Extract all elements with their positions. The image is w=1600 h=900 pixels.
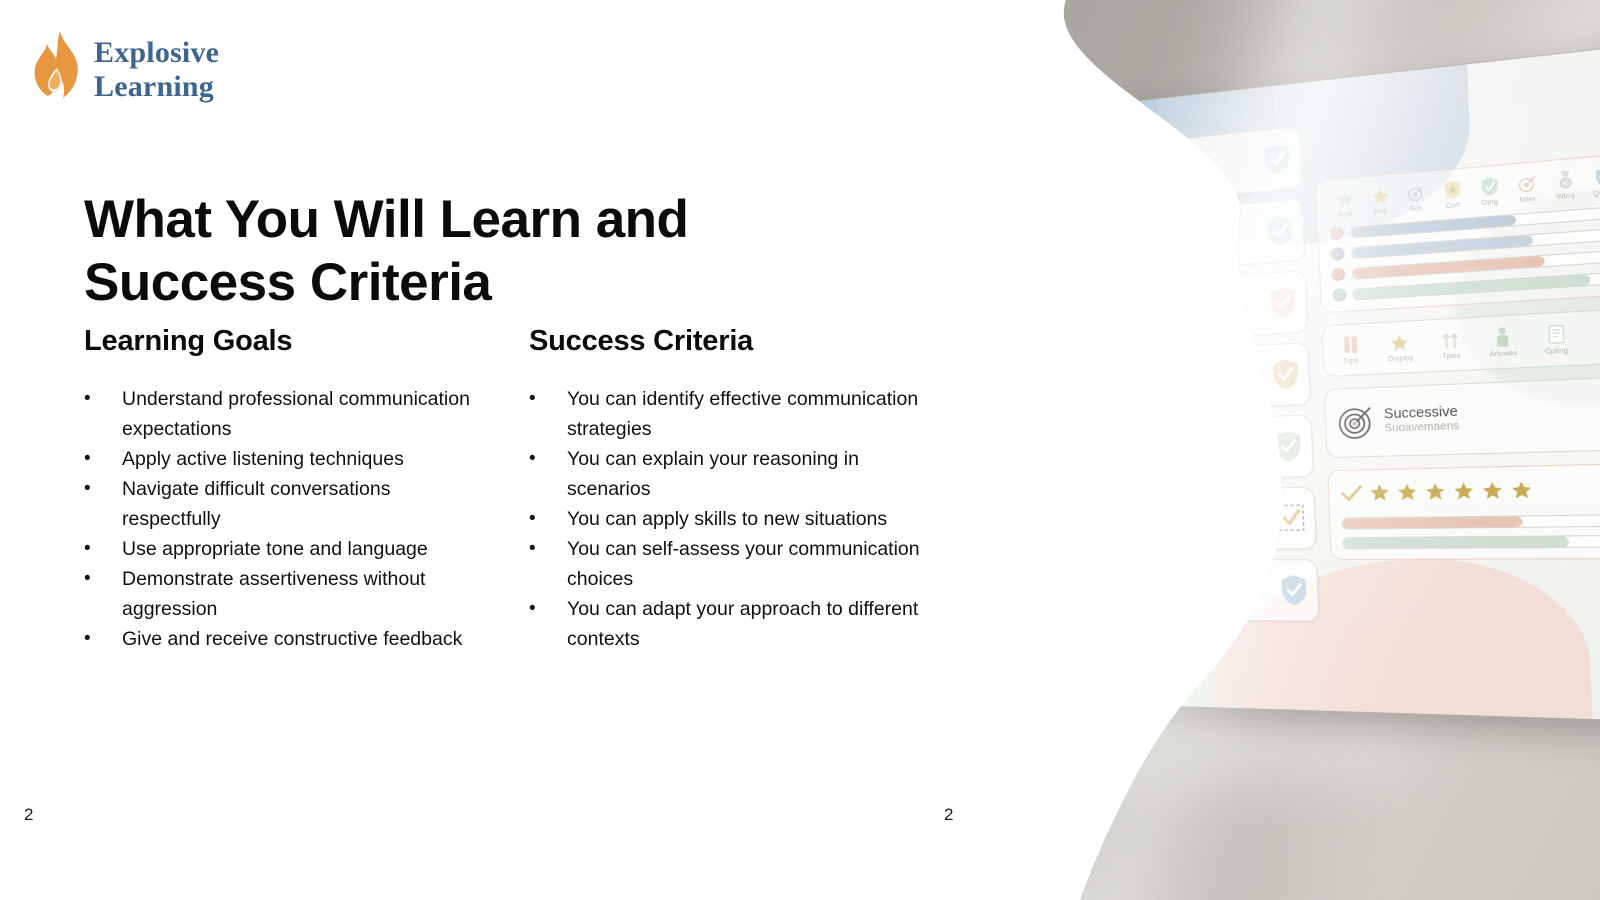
- progress-fill: [1352, 235, 1533, 258]
- list-item-text: Give and receive constructive feedback: [122, 624, 484, 654]
- shield-check-icon: [1271, 358, 1301, 391]
- slide-root: Explosive Learning What You Will Learn a…: [0, 0, 1600, 900]
- row-subtitle: Suten dg: [1096, 376, 1272, 397]
- star-icon: [1389, 332, 1411, 353]
- shield-check-icon: [1262, 142, 1292, 177]
- bullet-marker: •: [84, 384, 122, 414]
- star-icon: [1481, 480, 1505, 502]
- progress-fill: [1343, 537, 1568, 549]
- star-icon: [1396, 481, 1419, 502]
- badge-label: Otng: [1473, 198, 1507, 209]
- list-item-text: You can explain your reasoning in scenar…: [567, 444, 929, 504]
- list-item-text: Demonstrate assertiveness without aggres…: [122, 564, 484, 624]
- shield-check-icon: [1478, 176, 1499, 198]
- column-success-criteria: Success Criteria • You can identify effe…: [529, 325, 929, 654]
- row-subtitle: Succes motis: [1088, 161, 1263, 191]
- badge-label: Wlrnj: [1548, 191, 1583, 202]
- highlight-texts: Successive Suoavemaens: [1384, 405, 1460, 436]
- star-icon: [1452, 480, 1475, 502]
- gold-medal-icon: [1047, 162, 1080, 197]
- tool-cell: Cpting: [1538, 323, 1574, 357]
- tool-label: Tpies: [1435, 352, 1468, 361]
- row-subtitle: Soccesss pone: [1099, 447, 1275, 466]
- highlight-row-panel: Successive Suoavemaens: [1324, 376, 1600, 459]
- achievement-board: Successivg Succes motis: [980, 43, 1600, 721]
- board-side-edge: [980, 122, 1002, 704]
- star-icon: [1335, 189, 1355, 209]
- board-content: Successivg Succes motis: [980, 43, 1600, 721]
- list-item-text: You can identify effective communication…: [567, 384, 929, 444]
- checkbox[interactable]: [1027, 510, 1051, 533]
- row-subtitle: Saerngreolce: [1094, 304, 1269, 328]
- badge-cell: Cort: [1435, 178, 1469, 211]
- list-item: • You can self-assess your communication…: [529, 534, 929, 594]
- document-icon: [1546, 323, 1567, 346]
- board-checklist: Successivg Succes motis: [1004, 126, 1322, 684]
- star-icon: [1370, 186, 1390, 206]
- progress-dot: [1332, 288, 1346, 302]
- row-subtitle: Pustiiet: [1101, 519, 1277, 535]
- dashed-check-icon: [1276, 502, 1306, 535]
- tool-label: Tigst: [1335, 357, 1367, 366]
- gold-medal-icon: [1055, 367, 1088, 401]
- board-widgets: Rgst Jsob: [1313, 92, 1600, 693]
- column-learning-goals: Learning Goals • Understand professional…: [84, 325, 484, 654]
- rating-panel: [1327, 463, 1600, 560]
- bullet-marker: •: [529, 504, 567, 534]
- badge-cell: Otng: [1472, 175, 1507, 208]
- tool-label: Oogony: [1384, 354, 1417, 363]
- tool-icon-row: Tigst Oogony: [1334, 320, 1600, 366]
- row-title: Beïarinons: [1096, 360, 1272, 383]
- tool-cell: Rbnt: [1592, 321, 1600, 354]
- row-title: Canectity: [1101, 504, 1277, 521]
- checkbox[interactable]: [1015, 171, 1039, 195]
- list-item: • Navigate difficult conversations respe…: [84, 474, 484, 534]
- page-number-right: 2: [944, 805, 953, 825]
- row-texts: Pregulian Posssment: [1103, 575, 1280, 604]
- row-texts: Siibcaps Saerngreolce: [1093, 289, 1269, 328]
- silver-medal-icon: [1057, 436, 1090, 470]
- list-item-text: Apply active listening techniques: [122, 444, 484, 474]
- checkbox[interactable]: [1022, 374, 1046, 397]
- row-texts: Schasaives Soccesss pone: [1098, 432, 1274, 466]
- shield-check-icon: [1273, 430, 1303, 463]
- list-item: • Understand professional communication …: [84, 384, 484, 444]
- progress-fill: [1354, 274, 1591, 299]
- progress-fill: [1353, 255, 1545, 278]
- list-item: • You can identify effective communicati…: [529, 384, 929, 444]
- progress-bar-row: [1342, 535, 1600, 549]
- bullet-marker: •: [84, 564, 122, 594]
- tool-cell: Artuwex: [1485, 325, 1520, 358]
- checkbox[interactable]: [1025, 442, 1049, 465]
- rating-bars: [1341, 514, 1600, 549]
- badge-cell: Rgst: [1328, 189, 1361, 220]
- bullet-marker: •: [84, 624, 122, 654]
- brand-logo: Explosive Learning: [30, 30, 219, 110]
- list-item: • You can explain your reasoning in scen…: [529, 444, 929, 504]
- target-icon: [1337, 404, 1375, 440]
- progress-track: [1341, 514, 1600, 530]
- shield-check-icon: [1268, 286, 1298, 320]
- badge-cell: Jsob: [1363, 186, 1396, 217]
- checkbox[interactable]: [1030, 578, 1054, 600]
- bullet-marker: •: [529, 594, 567, 624]
- tool-cell: Tpies: [1434, 328, 1468, 361]
- page-title: What You Will Learn and Success Criteria: [84, 188, 724, 314]
- badge-label: Cort: [1436, 201, 1470, 211]
- badges-progress-panel: Rgst Jsob: [1316, 152, 1600, 313]
- tool-label: Rbnt: [1593, 344, 1600, 354]
- progress-fill: [1351, 214, 1515, 237]
- star-icon: [1424, 481, 1447, 502]
- progress-bar-group: [1330, 204, 1600, 302]
- target-icon: [1405, 183, 1426, 203]
- shield-icon: [1442, 179, 1463, 201]
- highlight-row: Successive Suoavemaens: [1337, 388, 1600, 447]
- arrows-icon: [1441, 329, 1461, 351]
- content-columns: Learning Goals • Understand professional…: [84, 325, 934, 654]
- row-title: Schasaives: [1098, 432, 1274, 452]
- badge-cell: Sos: [1399, 183, 1433, 214]
- checkbox[interactable]: [1017, 239, 1041, 263]
- tool-cell: Tigst: [1334, 334, 1367, 366]
- list-item-text: Use appropriate tone and language: [122, 534, 484, 564]
- bullet-marker: •: [529, 444, 567, 474]
- tool-cell: Oogony: [1383, 332, 1417, 363]
- shield-check-icon: [1279, 574, 1309, 606]
- badge-label: Jsob: [1364, 207, 1396, 217]
- check-icon: [1340, 484, 1363, 502]
- silver-shield-icon: [1052, 299, 1085, 334]
- decorative-photo: Successivg Succes motis: [980, 0, 1600, 900]
- tool-label: Artuwex: [1486, 349, 1520, 358]
- list-item: • You can apply skills to new situations: [529, 504, 929, 534]
- star-icon: [1368, 482, 1391, 503]
- row-title: Pregulian: [1103, 575, 1279, 590]
- progress-dot: [1331, 247, 1345, 261]
- list-item: • You can adapt your approach to differe…: [529, 594, 929, 654]
- success-criteria-list: • You can identify effective communicati…: [529, 384, 929, 654]
- badge-cell: Mter: [1509, 173, 1544, 205]
- row-texts: Beïarinons Suten dg: [1096, 360, 1272, 397]
- bullet-marker: •: [84, 444, 122, 474]
- list-item-text: You can apply skills to new situations: [567, 504, 929, 534]
- gold-shield-icon: [1050, 230, 1083, 265]
- badge-label: Mter: [1510, 195, 1545, 206]
- table-row: Siibcaps Saerngreolce: [1009, 270, 1309, 349]
- list-item-text: Navigate difficult conversations respect…: [122, 474, 484, 534]
- star-rating: [1340, 475, 1600, 510]
- row-title: Siibcaps: [1093, 289, 1268, 315]
- bullet-marker: •: [84, 534, 122, 564]
- list-item-text: You can adapt your approach to different…: [567, 594, 929, 654]
- list-item: • Use appropriate tone and language: [84, 534, 484, 564]
- board-face: Successivg Succes motis: [980, 43, 1600, 721]
- gold-shield-icon: [1060, 504, 1093, 537]
- row-texts: Sareunes Ining thoium: [1090, 218, 1266, 260]
- list-item-text: You can self-assess your communication c…: [567, 534, 929, 594]
- row-subtitle: Ining thoium: [1091, 233, 1266, 260]
- progress-bar-row: [1341, 514, 1600, 530]
- medal-icon: [1555, 169, 1575, 191]
- progress-dot: [1331, 267, 1345, 281]
- bullet-marker: •: [529, 384, 567, 414]
- badge-label: Qwsm: [1587, 188, 1600, 199]
- brand-name: Explosive Learning: [94, 36, 219, 103]
- table-row: Canectity Pustiiet: [1016, 487, 1317, 551]
- table-row: Pregulian Posssment: [1019, 559, 1320, 622]
- brand-name-line1: Explosive: [94, 36, 219, 69]
- badge-cell: Wlrnj: [1547, 169, 1583, 203]
- photo-clip-shape: Successivg Succes motis: [980, 0, 1600, 900]
- tool-label: Cpting: [1539, 347, 1574, 357]
- row-texts: Canectity Pustiiet: [1101, 504, 1278, 535]
- list-item: • Give and receive constructive feedback: [84, 624, 484, 654]
- column-heading: Success Criteria: [529, 325, 929, 358]
- progress-track: [1342, 535, 1600, 549]
- progress-dot: [1330, 226, 1344, 240]
- badge-label: Sos: [1400, 204, 1433, 214]
- list-item-text: Understand professional communication ex…: [122, 384, 484, 444]
- flame-icon: [30, 30, 84, 110]
- checkbox[interactable]: [1020, 306, 1044, 330]
- row-texts: Successivg Succes motis: [1088, 146, 1264, 191]
- learning-goals-list: • Understand professional communication …: [84, 384, 484, 654]
- pillars-icon: [1340, 334, 1360, 356]
- list-item: • Apply active listening techniques: [84, 444, 484, 474]
- shield-check-icon: [1265, 214, 1295, 248]
- badge-label: Rgst: [1329, 209, 1361, 219]
- badge-cell: Qwsm: [1586, 165, 1600, 199]
- shield-check-icon: [1593, 166, 1600, 188]
- highlight-subtitle: Suoavemaens: [1384, 420, 1459, 436]
- person-icon: [1493, 326, 1513, 348]
- tools-panel: Tigst Oogony: [1321, 307, 1600, 377]
- progress-fill: [1343, 517, 1523, 529]
- table-row: Schasaives Soccesss pone: [1014, 414, 1314, 483]
- table-row: Beïarinons Suten dg: [1011, 342, 1311, 416]
- row-subtitle: Posssment: [1104, 590, 1280, 605]
- page-number-left: 2: [24, 805, 33, 825]
- bullet-marker: •: [84, 474, 122, 504]
- target-icon: [1516, 174, 1538, 195]
- column-heading: Learning Goals: [84, 325, 484, 358]
- silver-medal-icon: [1062, 573, 1095, 606]
- table-row: Sareunes Ining thoium: [1006, 198, 1305, 281]
- list-item: • Demonstrate assertiveness without aggr…: [84, 564, 484, 624]
- star-icon: [1510, 479, 1534, 501]
- bullet-marker: •: [529, 534, 567, 564]
- brand-name-line2: Learning: [94, 70, 219, 104]
